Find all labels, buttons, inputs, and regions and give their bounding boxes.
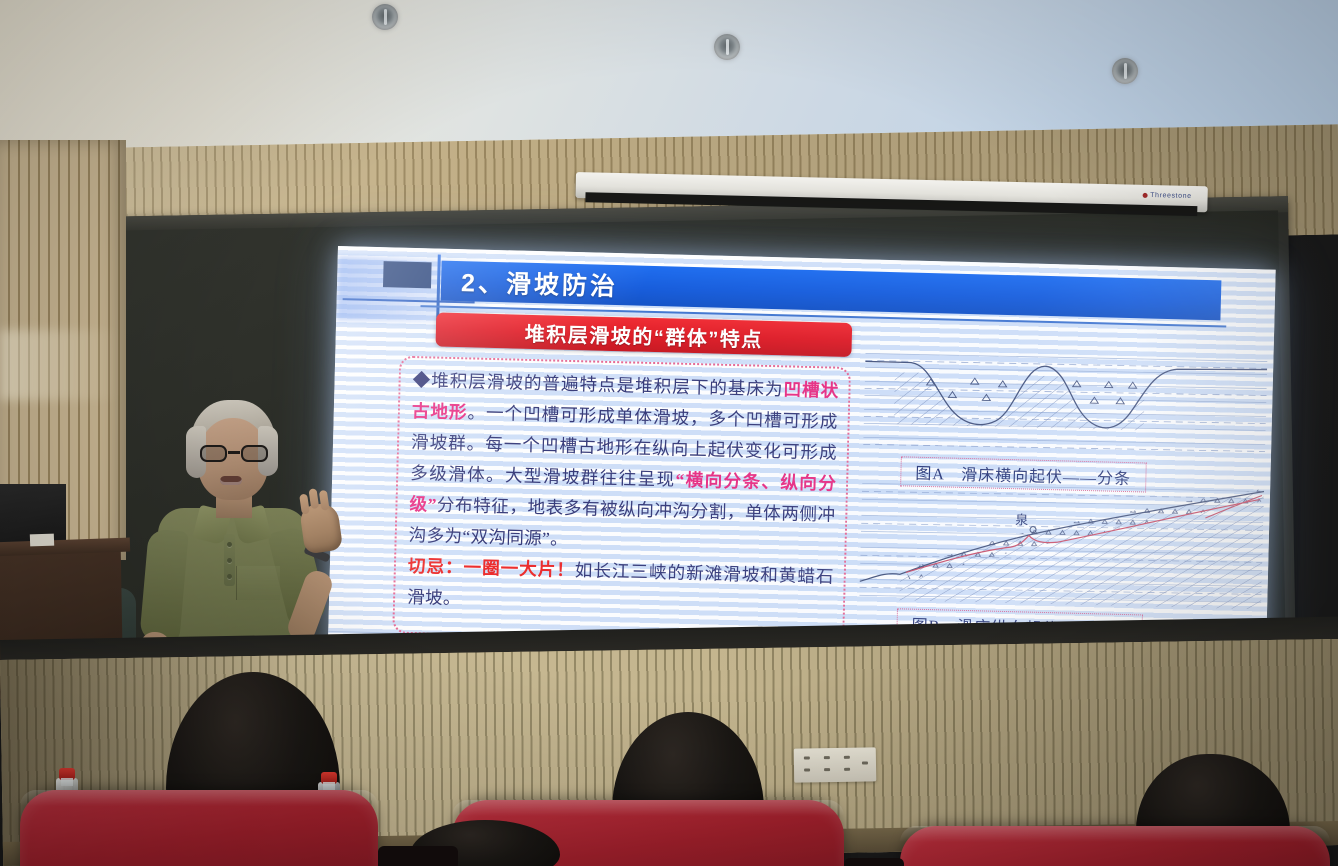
slide-title-bar: 2、滑坡防治 <box>441 261 1222 321</box>
body-seg-0: ◆堆积层滑坡的普遍特点是堆积层下的基床为 <box>412 370 783 399</box>
seat-edge <box>20 790 378 806</box>
slide-body-textbox: ◆堆积层滑坡的普遍特点是堆积层下的基床为凹槽状古地形。一个凹槽可形成单体滑坡，多… <box>392 356 851 645</box>
ceiling-downlight-icon <box>714 34 740 60</box>
ceiling-downlight-icon <box>1112 58 1138 84</box>
speaker-shirt-pocket <box>236 566 280 600</box>
brand-logo-icon <box>1142 193 1147 198</box>
diagram-a-svg <box>863 345 1268 463</box>
brand-name-text: Threestone <box>1150 192 1192 200</box>
screen-brand-label: Threestone <box>1142 192 1192 200</box>
slide-title: 2、滑坡防治 <box>461 263 619 303</box>
diagram-a-cross-section <box>863 345 1268 463</box>
seat-gap <box>378 846 458 866</box>
auditorium-seat[interactable] <box>20 790 378 866</box>
wall-light-glow <box>0 330 120 400</box>
finger <box>299 494 310 515</box>
socket-hole <box>804 768 810 771</box>
eyeglasses-icon <box>200 445 268 462</box>
diagram-b-svg <box>859 473 1264 613</box>
shirt-button <box>227 542 232 547</box>
slide-subtitle: 堆积层滑坡的“群体”特点 <box>525 317 764 352</box>
podium-paper <box>30 534 54 547</box>
socket-hole <box>824 756 830 759</box>
socket-hole <box>862 761 868 764</box>
shirt-button <box>227 574 232 579</box>
socket-hole <box>804 756 810 759</box>
bottle-neck <box>323 782 335 790</box>
finger <box>319 490 330 511</box>
socket-hole <box>824 768 830 771</box>
bottle-neck <box>61 778 73 786</box>
glasses-lens-right <box>241 445 268 462</box>
socket-hole <box>844 768 850 771</box>
body-seg-4: 分布特征，地表多有被纵向冲沟分割，单体两侧冲沟多为“双沟同源”。 <box>408 495 835 549</box>
glasses-lens-left <box>200 445 227 462</box>
body-seg-5: 切忌：一圈一大片！ <box>408 556 575 580</box>
ceiling-downlight-icon <box>372 4 398 30</box>
seat-gap <box>844 858 904 866</box>
auditorium-seat[interactable] <box>900 826 1330 866</box>
diagram-b-long-section <box>859 473 1264 613</box>
glasses-bridge <box>228 451 240 454</box>
title-decoration-rect <box>383 261 432 288</box>
shirt-button <box>227 558 232 563</box>
seat-edge <box>452 800 844 816</box>
slide-subtitle-banner: 堆积层滑坡的“群体”特点 <box>435 313 852 358</box>
wall-socket-panel[interactable] <box>794 747 877 782</box>
seat-edge <box>900 826 1330 842</box>
socket-hole <box>844 756 850 759</box>
diagram-b-spring-label: 泉 <box>1015 509 1028 528</box>
finger <box>309 488 320 509</box>
speaker-mouth <box>220 476 242 485</box>
speaker-right-hand-gesture <box>299 502 343 555</box>
slide-body-text: ◆堆积层滑坡的普遍特点是堆积层下的基床为凹槽状古地形。一个凹槽可形成单体滑坡，多… <box>407 365 839 624</box>
lecture-hall-photo: Threestone 2、滑坡防治 堆积层滑坡的“群体”特点 ◆堆积层滑坡的普遍… <box>0 0 1338 866</box>
